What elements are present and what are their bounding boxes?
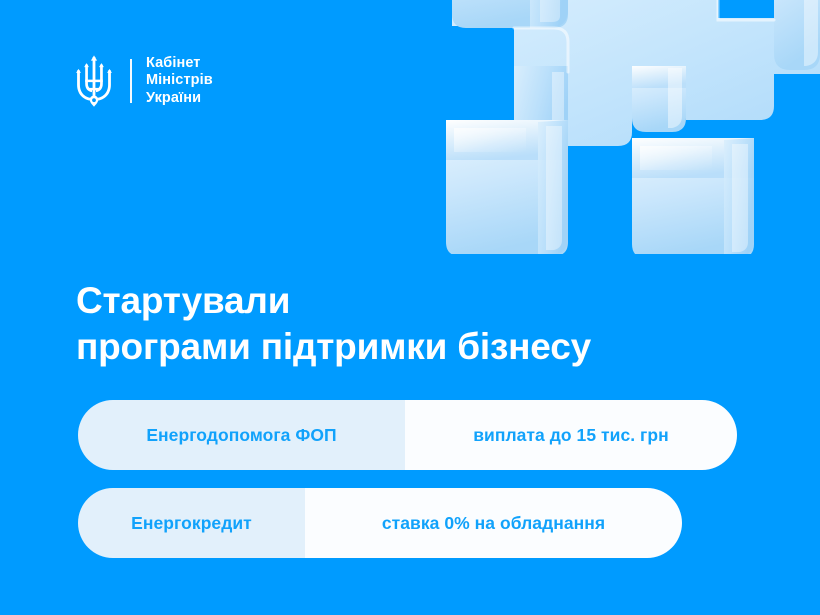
program-pill-energy-credit: Енергокредит ставка 0% на обладнання (78, 488, 682, 558)
program-detail: ставка 0% на обладнання (305, 488, 682, 558)
logo-text-line-2: Міністрів (146, 72, 213, 89)
decor-block-lower-left (446, 120, 568, 254)
decor-block-upper-left (452, 0, 568, 28)
program-detail: виплата до 15 тис. грн (405, 400, 737, 470)
poster-canvas: Кабінет Міністрів України Стартували про… (0, 0, 820, 615)
decor-block-middle (632, 66, 686, 132)
decor-edge-highlights (514, 0, 774, 72)
page-title: Стартували програми підтримки бізнесу (76, 278, 591, 369)
decor-block-upper-right (774, 0, 820, 70)
program-name: Енергокредит (78, 488, 305, 558)
glass-blocks-decoration (418, 0, 820, 254)
program-name: Енергодопомога ФОП (78, 400, 405, 470)
decor-block-mid-left (514, 66, 568, 150)
ukrainian-trident-icon (74, 55, 114, 107)
decor-block-lower-middle (632, 138, 754, 254)
program-pill-energy-aid: Енергодопомога ФОП виплата до 15 тис. гр… (78, 400, 737, 470)
logo-text-line-1: Кабінет (146, 55, 213, 72)
decor-body (452, 0, 820, 146)
cabinet-of-ministers-logo: Кабінет Міністрів України (74, 52, 213, 110)
logo-text: Кабінет Міністрів України (146, 55, 213, 106)
logo-text-line-3: України (146, 90, 213, 107)
logo-divider (130, 59, 132, 103)
glass-blocks-svg (418, 0, 820, 254)
